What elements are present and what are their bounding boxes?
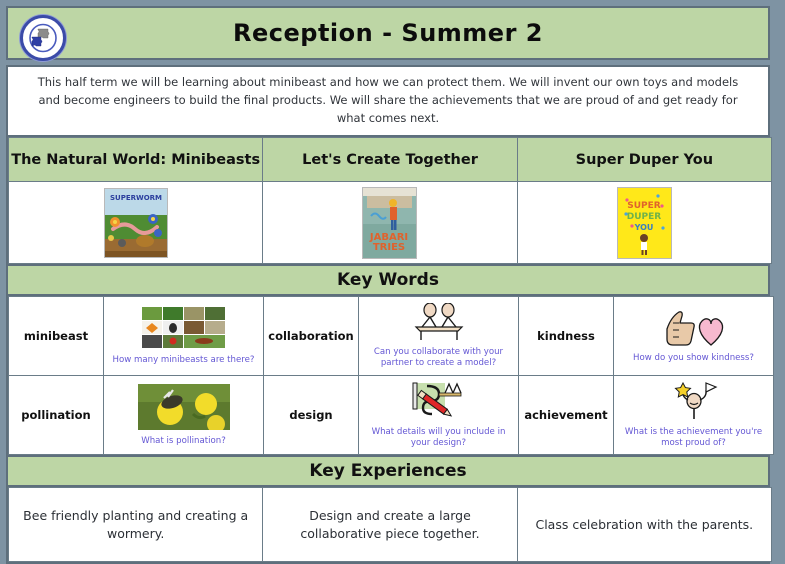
- key-word-cell-collaboration: Can you collaborate with your partner to…: [359, 297, 519, 376]
- topic-heading-super-duper-you: Super Duper You: [517, 138, 771, 182]
- key-words-band: Key Words: [6, 266, 770, 296]
- key-experiences-row: Bee friendly planting and creating a wor…: [9, 488, 772, 562]
- key-words-row-2: pollination W: [9, 376, 774, 455]
- key-experiences-table: Bee friendly planting and creating a wor…: [8, 487, 772, 562]
- key-word-caption-achievement: What is the achievement you're most prou…: [618, 427, 769, 448]
- key-word-achievement: achievement: [519, 376, 614, 455]
- key-words-block: minibeast: [6, 296, 770, 457]
- book-cover-jabari-tries: JABARI TRIES: [362, 187, 417, 259]
- topic-heading-natural-world: The Natural World: Minibeasts: [9, 138, 263, 182]
- key-experience-1: Bee friendly planting and creating a wor…: [9, 488, 263, 562]
- jabari-tries-cover-art: JABARI TRIES: [363, 188, 416, 258]
- key-word-caption-kindness: How do you show kindness?: [618, 353, 769, 364]
- key-experiences-band: Key Experiences: [6, 457, 770, 487]
- key-word-cell-kindness: How do you show kindness?: [614, 297, 774, 376]
- super-duper-you-cover-art: SUPER DUPER YOU: [618, 188, 671, 258]
- key-word-minibeast: minibeast: [9, 297, 104, 376]
- title-bar: Reception - Summer 2: [6, 6, 770, 60]
- puzzle-icon: [28, 23, 58, 53]
- thumbs-up-heart-icon: [661, 309, 727, 347]
- school-puzzle-logo: [20, 15, 66, 61]
- key-words-table: minibeast: [8, 296, 774, 455]
- key-word-cell-minibeast: How many minibeasts are there?: [104, 297, 264, 376]
- key-word-caption-pollination: What is pollination?: [108, 436, 259, 447]
- key-word-caption-minibeast: How many minibeasts are there?: [108, 355, 259, 366]
- key-word-cell-design: What details will you include in your de…: [359, 376, 519, 455]
- page-title: Reception - Summer 2: [233, 19, 543, 47]
- key-word-cell-pollination: What is pollination?: [104, 376, 264, 455]
- superworm-cover-art: SUPERWORM: [105, 189, 167, 257]
- intro-paragraph: This half term we will be learning about…: [6, 65, 770, 137]
- book-cover-row: SUPERWORM: [9, 182, 772, 264]
- planning-poster: Reception - Summer 2 This half term we w…: [0, 0, 772, 540]
- book-cover-cell-jabari-tries: JABARI TRIES: [263, 182, 517, 264]
- bee-on-flower-photo-icon: [138, 384, 230, 430]
- key-experiences-block: Bee friendly planting and creating a wor…: [6, 487, 770, 564]
- book-cover-cell-superworm: SUPERWORM: [9, 182, 263, 264]
- svg-text:SUPER: SUPER: [627, 201, 661, 211]
- topic-heading-create-together: Let's Create Together: [263, 138, 517, 182]
- two-children-at-table-icon: [408, 303, 470, 341]
- topic-header-row: The Natural World: Minibeasts Let's Crea…: [9, 138, 772, 182]
- key-experience-2: Design and create a large collaborative …: [263, 488, 517, 562]
- key-words-row-1: minibeast: [9, 297, 774, 376]
- minibeast-photo-grid-icon: [142, 307, 226, 349]
- key-word-caption-design: What details will you include in your de…: [363, 427, 514, 448]
- key-word-kindness: kindness: [519, 297, 614, 376]
- key-word-pollination: pollination: [9, 376, 104, 455]
- topics-table: The Natural World: Minibeasts Let's Crea…: [8, 137, 772, 264]
- child-with-star-icon: [666, 381, 722, 421]
- svg-text:SUPERWORM: SUPERWORM: [110, 194, 162, 202]
- book-cover-super-duper-you: SUPER DUPER YOU: [617, 187, 672, 259]
- svg-text:TRIES: TRIES: [373, 242, 405, 253]
- key-word-caption-collaboration: Can you collaborate with your partner to…: [363, 347, 514, 368]
- book-cover-cell-super-duper-you: SUPER DUPER YOU: [517, 182, 771, 264]
- key-word-cell-achievement: What is the achievement you're most prou…: [614, 376, 774, 455]
- book-cover-superworm: SUPERWORM: [104, 188, 168, 258]
- svg-text:YOU: YOU: [633, 223, 653, 232]
- svg-text:DUPER: DUPER: [627, 212, 662, 222]
- pencil-drawing-icon: [409, 381, 469, 421]
- key-experience-3: Class celebration with the parents.: [517, 488, 771, 562]
- topics-block: The Natural World: Minibeasts Let's Crea…: [6, 137, 770, 266]
- key-word-collaboration: collaboration: [264, 297, 359, 376]
- key-word-design: design: [264, 376, 359, 455]
